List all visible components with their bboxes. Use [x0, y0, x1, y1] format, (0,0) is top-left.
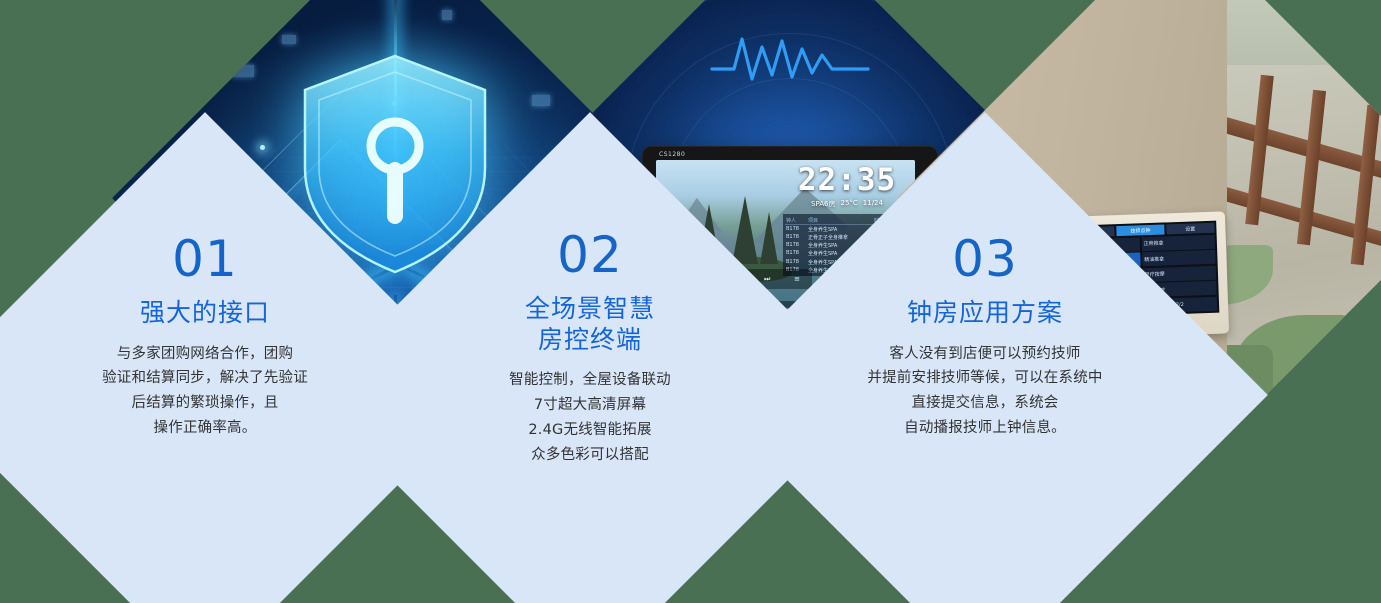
card-title-line: 房控终端	[525, 325, 655, 356]
desc-line: 客人没有到店便可以预约技师	[867, 342, 1102, 367]
tab-item-active[interactable]: 技师点钟	[1116, 224, 1165, 236]
card-title: 钟房应用方案	[907, 298, 1063, 329]
card-description: 客人没有到店便可以预约技师 并提前安排技师等候，可以在系统中 直接提交信息，系统…	[867, 342, 1102, 442]
temperature-label: 25°C	[840, 199, 857, 209]
date-label: 11/24	[863, 199, 883, 209]
desc-line: 后结算的繁琐操作，且	[102, 391, 308, 416]
card-number: 02	[557, 230, 623, 280]
tablet-clock: 22:35 SPA6房 25°C 11/24	[783, 165, 911, 209]
tab-item[interactable]: 设置	[1166, 223, 1215, 235]
infographic-stage: CS1280 22:35 SPA6房	[0, 0, 1381, 603]
desc-line: 操作正确率高。	[102, 416, 308, 441]
desc-line: 与多家团购网络合作，团购	[102, 342, 308, 367]
chip-icon	[532, 95, 550, 106]
next-icon[interactable]: ⏭	[764, 275, 770, 284]
card-description: 与多家团购网络合作，团购 验证和结算同步，解决了先验证 后结算的繁琐操作，且 操…	[102, 342, 308, 442]
chip-icon	[232, 65, 254, 77]
clock-time: 22:35	[783, 165, 911, 196]
tablet-brand: CS1280	[659, 151, 685, 158]
card-description: 智能控制，全屋设备联动 7寸超大高清屏幕 2.4G无线智能拓展 众多色彩可以搭配	[509, 368, 671, 468]
card-number: 01	[172, 234, 238, 284]
desc-line: 并提前安排技师等候，可以在系统中	[867, 366, 1102, 391]
card-title-line: 全场景智慧	[525, 294, 655, 325]
desc-line: 验证和结算同步，解决了先验证	[102, 366, 308, 391]
desc-line: 7寸超大高清屏幕	[509, 393, 671, 418]
desc-line: 2.4G无线智能拓展	[509, 418, 671, 443]
menu-item[interactable]: 正骨推拿	[1141, 234, 1215, 251]
col-header: 项目	[808, 217, 870, 224]
card-title-line: 钟房应用方案	[907, 298, 1063, 329]
desc-line: 众多色彩可以搭配	[509, 443, 671, 468]
desc-line: 自动播报技师上钟信息。	[867, 416, 1102, 441]
desc-line: 智能控制，全屋设备联动	[509, 368, 671, 393]
spark-icon	[260, 145, 265, 150]
desc-line: 直接提交信息，系统会	[867, 391, 1102, 416]
card-title-line: 强大的接口	[140, 298, 270, 329]
plant-shape	[1333, 375, 1381, 481]
menu-item[interactable]: 精油推拿	[1142, 250, 1216, 267]
chip-icon	[282, 35, 296, 44]
card-title: 强大的接口	[140, 298, 270, 329]
card-number: 03	[952, 234, 1018, 284]
chip-icon	[442, 10, 452, 20]
card-title: 全场景智慧 房控终端	[525, 294, 655, 355]
menu-item[interactable]: 足疗按摩	[1142, 265, 1216, 282]
room-label: SPA6房	[811, 199, 835, 209]
card-content-03: 03 钟房应用方案 客人没有到店便可以预约技师 并提前安排技师等候，可以在系统中…	[790, 200, 1180, 590]
col-header: 钟人	[786, 217, 806, 224]
ecg-waveform-icon	[710, 27, 870, 91]
mode-icon[interactable]: ≡	[794, 275, 800, 283]
